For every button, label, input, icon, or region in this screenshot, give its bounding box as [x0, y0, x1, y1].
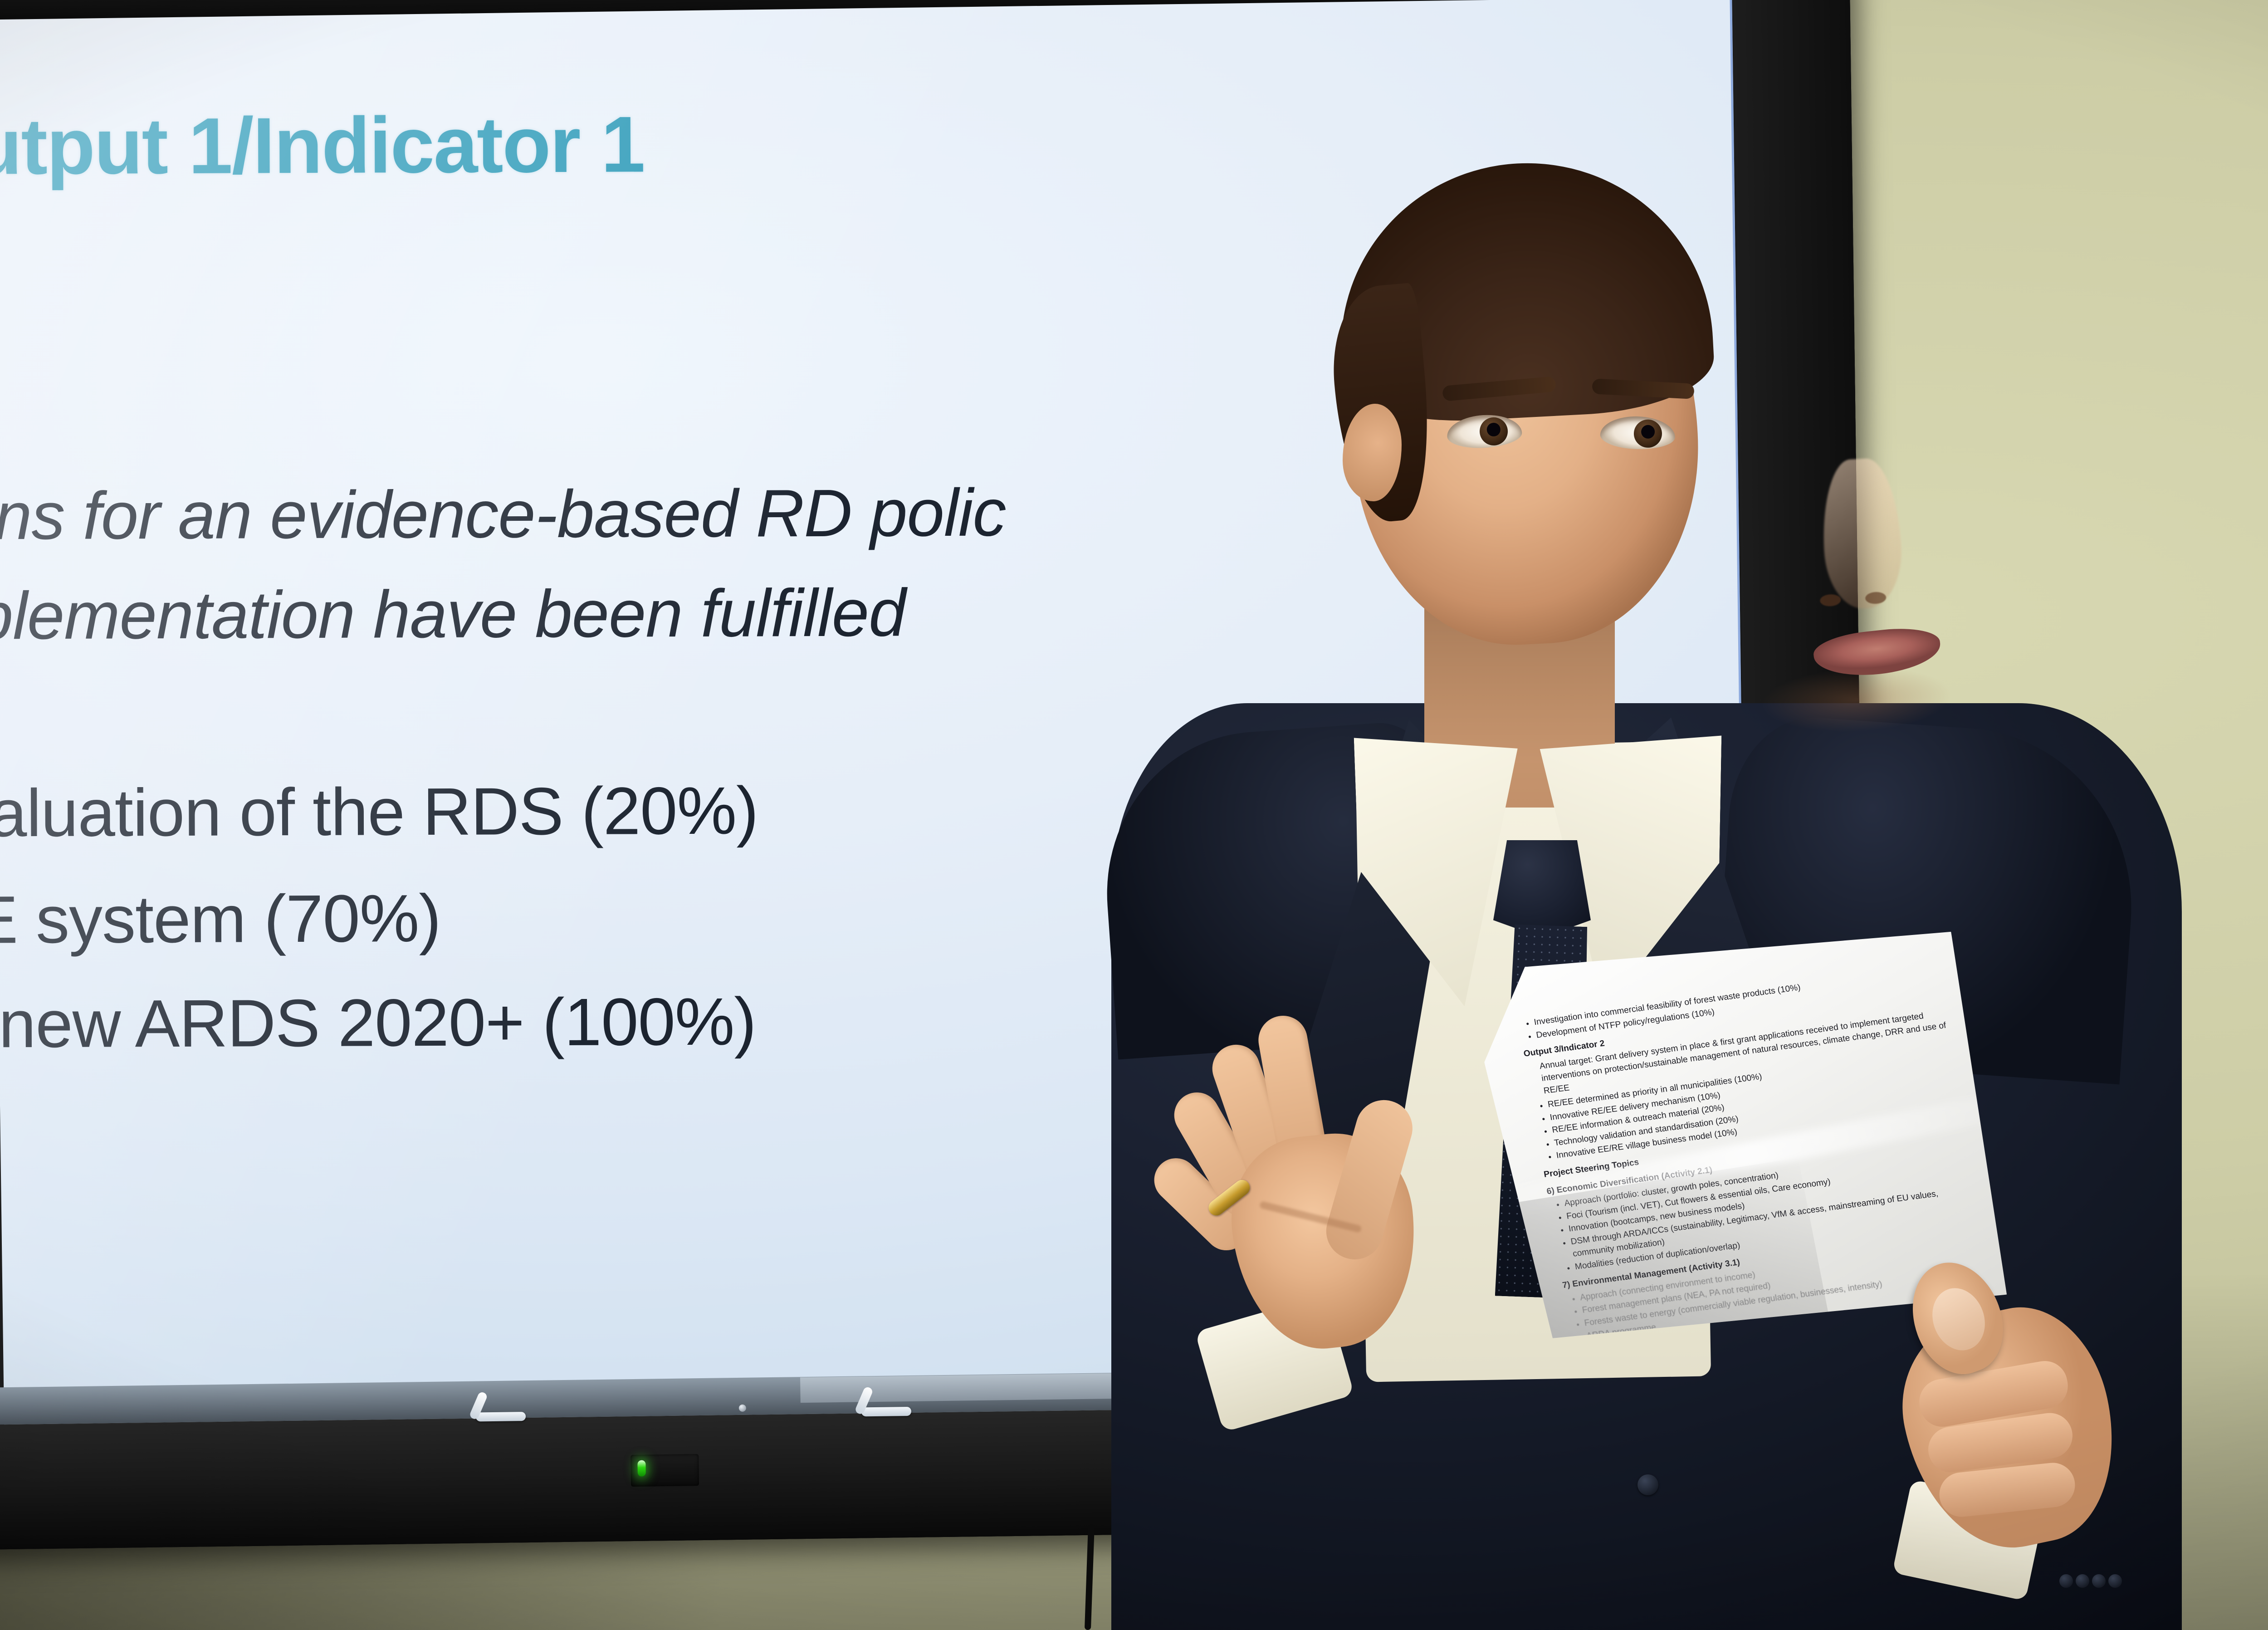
tray-screw-dot — [739, 1405, 746, 1412]
slide-title: Output 1/Indicator 1 — [0, 99, 645, 193]
slide-line-rds-evaluation: evaluation of the RDS (20%) — [0, 772, 758, 852]
stylus-pen[interactable] — [861, 1407, 911, 1416]
slide-line-me-system: &E system (70%) — [0, 880, 441, 959]
nostril — [1820, 594, 1841, 607]
nostril — [1865, 592, 1887, 604]
jacket-button — [1637, 1474, 1658, 1495]
nose — [1819, 457, 1904, 610]
raised-open-hand — [1164, 984, 1494, 1411]
stylus-pen[interactable] — [476, 1412, 526, 1421]
slide-line-conditions: nditions for an evidence-based RD polic — [0, 475, 1006, 556]
power-led-icon — [637, 1460, 645, 1477]
slide-line-implementation: d implementation have been fulfilled — [0, 574, 906, 655]
necktie-knot — [1493, 840, 1591, 938]
photo-scene: Output 1/Indicator 1 et nditions for an … — [0, 0, 2268, 1630]
slide-line-ards: he new ARDS 2020+ (100%) — [0, 984, 756, 1064]
sleeve-buttons — [2059, 1574, 2136, 1592]
